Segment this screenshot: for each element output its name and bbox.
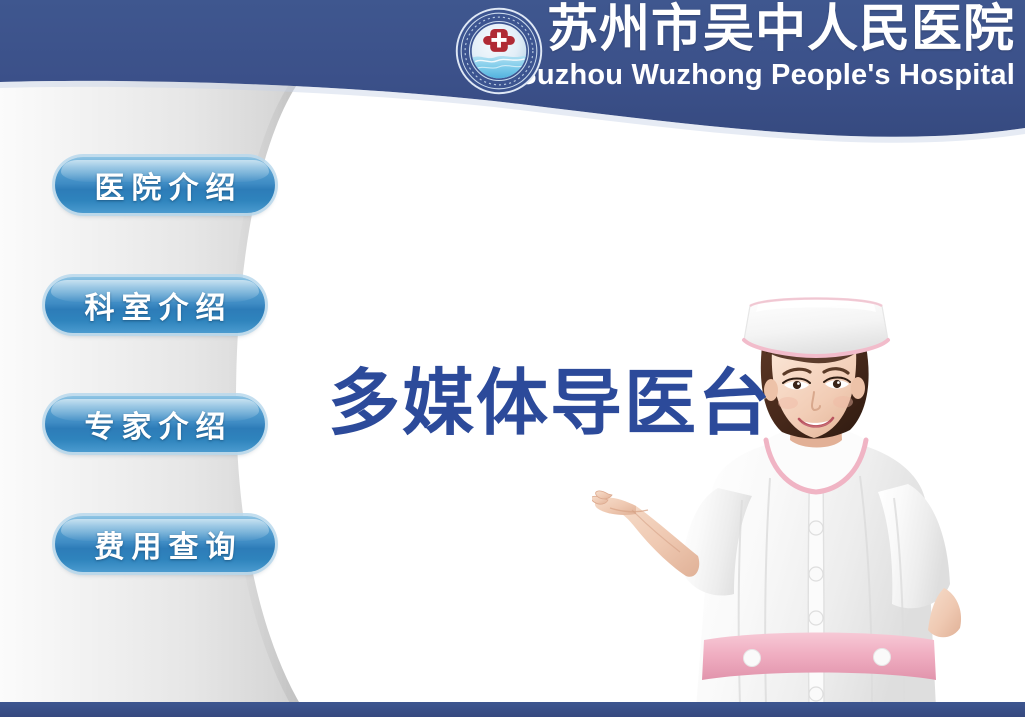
sidebar-item-label: 科室介绍 bbox=[78, 283, 233, 327]
sidebar-item-expert-intro[interactable]: 专家介绍 bbox=[45, 396, 265, 452]
hospital-name-cn: 苏州市吴中人民医院 bbox=[517, 2, 1015, 58]
page-title: 多媒体导医台 bbox=[328, 363, 772, 443]
footer-bar bbox=[0, 702, 1025, 717]
header-titles: 苏州市吴中人民医院 Suzhou Wuzhong People's Hospit… bbox=[517, 2, 1015, 92]
sidebar-item-fee-inquiry[interactable]: 费用查询 bbox=[55, 516, 275, 572]
hospital-emblem-icon bbox=[455, 7, 543, 95]
sidebar-nav: 医院介绍 科室介绍 专家介绍 费用查询 bbox=[0, 0, 320, 717]
nurse-photo bbox=[592, 288, 1025, 708]
kiosk-screen: 苏州市吴中人民医院 Suzhou Wuzhong People's Hospit… bbox=[0, 0, 1025, 717]
sidebar-item-label: 医院介绍 bbox=[88, 163, 243, 207]
nurse-presenting-hand bbox=[592, 491, 699, 577]
hospital-name-en: Suzhou Wuzhong People's Hospital bbox=[517, 58, 1015, 92]
sidebar-item-hospital-intro[interactable]: 医院介绍 bbox=[55, 157, 275, 213]
sidebar-item-label: 专家介绍 bbox=[78, 402, 233, 446]
sidebar-item-department-intro[interactable]: 科室介绍 bbox=[45, 277, 265, 333]
nurse-cap-icon bbox=[744, 299, 888, 357]
sidebar-item-label: 费用查询 bbox=[88, 522, 243, 566]
